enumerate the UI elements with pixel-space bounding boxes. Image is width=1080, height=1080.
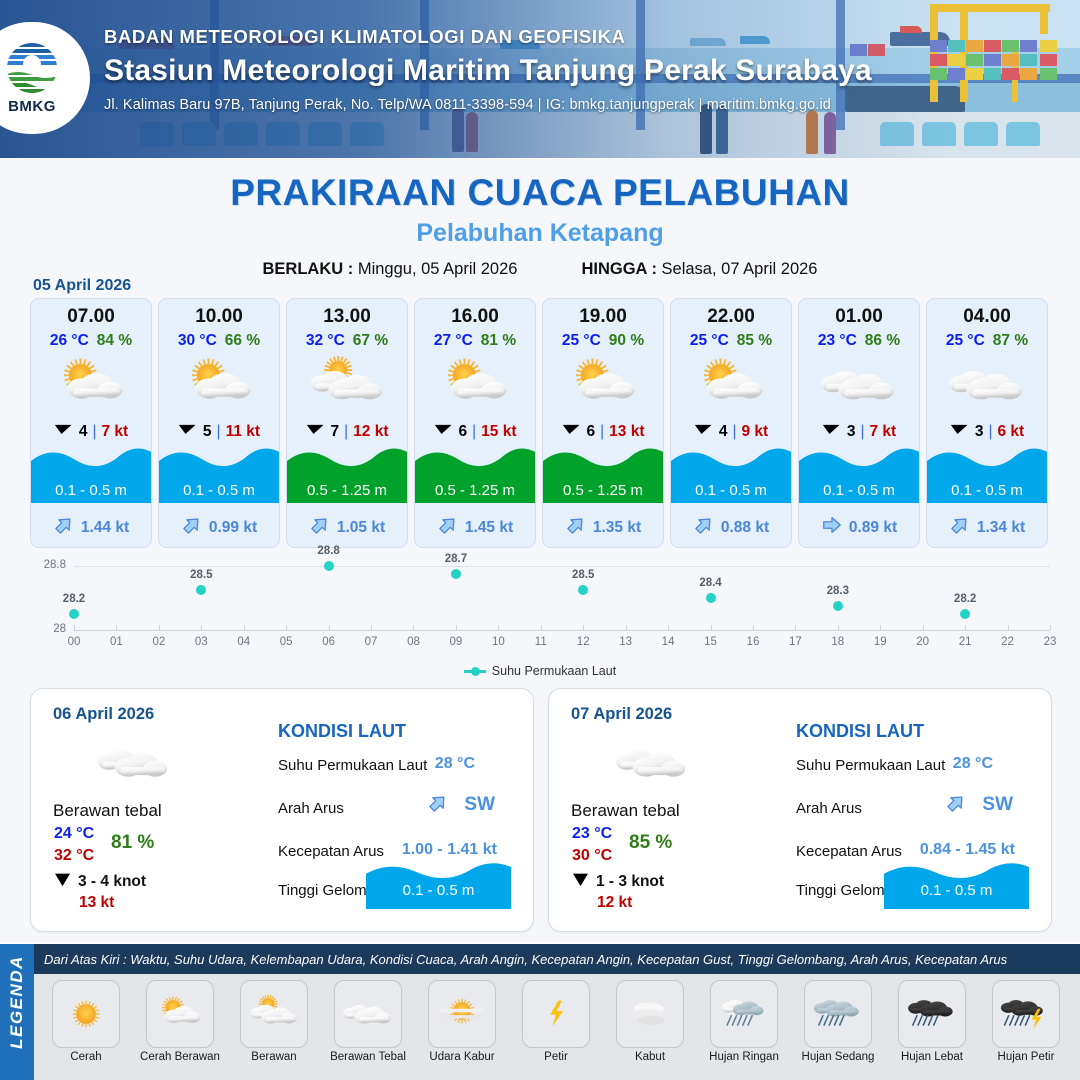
chart-xtick-mark — [711, 625, 712, 630]
chart-point — [196, 585, 206, 595]
current-direction-arrow-icon — [565, 514, 587, 541]
legend-section: LEGENDA Dari Atas Kiri : Waktu, Suhu Uda… — [0, 942, 1080, 1080]
chart-point — [706, 593, 716, 603]
valid-from-label: BERLAKU : — [263, 260, 354, 278]
chart-xtick: 17 — [789, 636, 802, 648]
legend-item: Kabut — [604, 980, 696, 1063]
hourly-card: 04.00 25 °C 87 % — [926, 298, 1048, 548]
agency-name: BADAN METEOROLOGI KLIMATOLOGI DAN GEOFIS… — [104, 26, 872, 48]
legend-note: Dari Atas Kiri : Waktu, Suhu Udara, Kele… — [34, 944, 1080, 974]
card-wind-row: 4 | 9 kt — [671, 422, 791, 441]
chart-xtick-mark — [329, 625, 330, 630]
daily-date: 06 April 2026 — [53, 705, 154, 724]
wind-direction-arrow-icon — [822, 422, 842, 441]
chart-xtick-mark — [923, 625, 924, 630]
header-text-block: BADAN METEOROLOGI KLIMATOLOGI DAN GEOFIS… — [104, 26, 872, 113]
daily-card: 07 April 2026 Berawan tebal — [548, 688, 1052, 932]
current-direction-arrow-icon — [427, 792, 449, 819]
page-title: PRAKIRAAN CUACA PELABUHAN — [0, 172, 1080, 214]
card-wave-height: 0.5 - 1.25 m — [287, 482, 407, 499]
daily-card: 06 April 2026 Berawan tebal — [30, 688, 534, 932]
legend-item-label: Hujan Sedang — [802, 1051, 875, 1063]
hourly-card: 13.00 32 °C 67 % — [286, 298, 408, 548]
card-temperature: 32 °C — [306, 332, 345, 350]
chart-xtick-mark — [880, 625, 881, 630]
card-wind-direction: 6 — [587, 423, 596, 441]
card-temperature: 25 °C — [562, 332, 601, 350]
chart-xtick: 20 — [916, 636, 929, 648]
card-temperature: 30 °C — [178, 332, 217, 350]
sea-row-label: Arah Arus — [278, 800, 344, 817]
daily-temp-min: 23 °C — [572, 825, 612, 843]
cerah-berawan-icon — [159, 354, 279, 416]
current-direction-value: SW — [464, 794, 495, 816]
card-current-row: 0.99 kt — [159, 514, 279, 541]
chart-xtick-mark — [965, 625, 966, 630]
card-temp-hum: 23 °C 86 % — [799, 332, 919, 350]
daily-forecast-row: 06 April 2026 Berawan tebal — [30, 688, 1052, 932]
card-temperature: 25 °C — [690, 332, 729, 350]
card-wave-height: 0.5 - 1.25 m — [543, 482, 663, 499]
sst-chart: 28.82828.228.528.828.728.528.428.328.200… — [24, 556, 1056, 688]
current-direction-arrow-icon — [181, 514, 203, 541]
current-direction-arrow-icon — [437, 514, 459, 541]
card-current-speed: 0.88 kt — [721, 519, 769, 537]
card-time: 07.00 — [31, 306, 151, 328]
chart-xtick-mark — [626, 625, 627, 630]
current-direction-arrow-icon — [821, 514, 843, 541]
valid-to: HINGGA : Selasa, 07 April 2026 — [581, 260, 817, 279]
card-humidity: 67 % — [353, 332, 388, 350]
chart-xtick: 12 — [577, 636, 590, 648]
legend-item-label: Petir — [544, 1051, 568, 1063]
bmkg-logo-text: BMKG — [8, 98, 56, 115]
daily-wind-value: 3 - 4 knot — [78, 873, 146, 891]
current-direction-arrow-icon — [309, 514, 331, 541]
wind-direction-arrow-icon — [572, 872, 589, 892]
daily-condition: Berawan tebal — [571, 801, 680, 821]
legend-item-label: Kabut — [635, 1051, 665, 1063]
wind-direction-arrow-icon — [306, 422, 326, 441]
hourly-date-label: 05 April 2026 — [33, 277, 131, 295]
berawan-tebal-icon — [334, 980, 402, 1048]
card-humidity: 90 % — [609, 332, 644, 350]
wind-direction-arrow-icon — [694, 422, 714, 441]
hourly-card: 01.00 23 °C 86 % — [798, 298, 920, 548]
chart-point-label: 28.2 — [63, 593, 85, 605]
chart-xtick-mark — [498, 625, 499, 630]
chart-xtick: 09 — [450, 636, 463, 648]
card-humidity: 66 % — [225, 332, 260, 350]
card-current-row: 1.45 kt — [415, 514, 535, 541]
bmkg-logo-mark — [4, 41, 60, 97]
chart-point-label: 28.4 — [699, 577, 721, 589]
card-humidity: 85 % — [737, 332, 772, 350]
card-humidity: 87 % — [993, 332, 1028, 350]
sea-surface-temp-value: 28 °C — [435, 755, 475, 773]
card-wind-direction: 7 — [331, 423, 340, 441]
card-gust: 6 kt — [997, 423, 1024, 441]
daily-gust: 12 kt — [597, 894, 632, 912]
kabut-icon — [616, 980, 684, 1048]
daily-temp-max: 30 °C — [572, 847, 612, 865]
card-wind-direction: 3 — [975, 423, 984, 441]
card-humidity: 84 % — [97, 332, 132, 350]
chart-xtick: 03 — [195, 636, 208, 648]
card-current-speed: 1.45 kt — [465, 519, 513, 537]
berawan-icon — [287, 354, 407, 416]
card-wave-height: 0.1 - 0.5 m — [671, 482, 791, 499]
card-separator: | — [860, 423, 864, 441]
udara-kabur-icon — [428, 980, 496, 1048]
card-temperature: 25 °C — [946, 332, 985, 350]
chart-xtick-mark — [583, 625, 584, 630]
legend-items: Cerah Cerah Berawan — [34, 974, 1080, 1080]
wind-direction-arrow-icon — [54, 422, 74, 441]
legend-item: Berawan Tebal — [322, 980, 414, 1063]
legend-item-label: Berawan Tebal — [330, 1051, 406, 1063]
card-wind-row: 3 | 6 kt — [927, 422, 1047, 441]
hourly-card: 16.00 27 °C 81 % 6 — [414, 298, 536, 548]
valid-from: BERLAKU : Minggu, 05 April 2026 — [263, 260, 518, 279]
card-wind-row: 6 | 15 kt — [415, 422, 535, 441]
card-wave-height: 0.1 - 0.5 m — [31, 482, 151, 499]
chart-xtick: 14 — [662, 636, 675, 648]
card-temp-hum: 25 °C 87 % — [927, 332, 1047, 350]
card-temp-hum: 25 °C 85 % — [671, 332, 791, 350]
daily-wind: 3 - 4 knot — [54, 872, 146, 892]
card-temperature: 23 °C — [818, 332, 857, 350]
petir-icon — [522, 980, 590, 1048]
chart-gridline — [74, 566, 1050, 567]
legend-item-label: Hujan Lebat — [901, 1051, 963, 1063]
chart-xtick: 13 — [619, 636, 632, 648]
legend-item: Udara Kabur — [416, 980, 508, 1063]
legend-side-title: LEGENDA — [7, 947, 27, 1057]
legend-side-bar: LEGENDA — [0, 944, 34, 1080]
sea-row-label: Arah Arus — [796, 800, 862, 817]
cerah-berawan-icon — [31, 354, 151, 416]
hujan-ringan-icon — [710, 980, 778, 1048]
sst-chart-legend: Suhu Permukaan Laut — [24, 664, 1056, 678]
chart-ytick: 28.8 — [44, 559, 66, 571]
card-current-speed: 1.35 kt — [593, 519, 641, 537]
chart-xtick: 00 — [68, 636, 81, 648]
chart-xtick-mark — [201, 625, 202, 630]
legend-item: Cerah — [40, 980, 132, 1063]
card-wind-row: 7 | 12 kt — [287, 422, 407, 441]
card-wave-height: 0.1 - 0.5 m — [799, 482, 919, 499]
card-temp-hum: 27 °C 81 % — [415, 332, 535, 350]
card-current-row: 1.05 kt — [287, 514, 407, 541]
legend-item: Petir — [510, 980, 602, 1063]
card-temp-hum: 25 °C 90 % — [543, 332, 663, 350]
daily-humidity: 85 % — [629, 832, 672, 854]
valid-to-label: HINGGA : — [581, 260, 656, 278]
chart-xtick: 10 — [492, 636, 505, 648]
legend-item-label: Udara Kabur — [429, 1051, 494, 1063]
sea-row-label: Suhu Permukaan Laut — [278, 757, 427, 774]
berawan-tebal-icon — [607, 737, 697, 789]
card-wind-row: 3 | 7 kt — [799, 422, 919, 441]
chart-xtick-mark — [753, 625, 754, 630]
card-current-row: 0.88 kt — [671, 514, 791, 541]
chart-xtick: 19 — [874, 636, 887, 648]
card-gust: 11 kt — [226, 423, 260, 441]
card-wind-row: 6 | 13 kt — [543, 422, 663, 441]
chart-xtick: 18 — [831, 636, 844, 648]
card-separator: | — [344, 423, 348, 441]
card-wave-height: 0.1 - 0.5 m — [159, 482, 279, 499]
cerah-berawan-icon — [415, 354, 535, 416]
hujan-lebat-icon — [898, 980, 966, 1048]
chart-xtick-mark — [371, 625, 372, 630]
card-time: 04.00 — [927, 306, 1047, 328]
cerah-berawan-icon — [671, 354, 791, 416]
chart-xtick-mark — [668, 625, 669, 630]
card-wind-direction: 6 — [459, 423, 468, 441]
card-temperature: 26 °C — [50, 332, 89, 350]
card-time: 19.00 — [543, 306, 663, 328]
chart-point — [451, 569, 461, 579]
validity-row: BERLAKU : Minggu, 05 April 2026 HINGGA :… — [0, 260, 1080, 279]
sea-row-label: Suhu Permukaan Laut — [796, 757, 945, 774]
chart-xtick: 23 — [1044, 636, 1057, 648]
card-current-row: 1.35 kt — [543, 514, 663, 541]
chart-xtick: 22 — [1001, 636, 1014, 648]
card-wave-height: 0.5 - 1.25 m — [415, 482, 535, 499]
legend-item: Hujan Petir — [980, 980, 1072, 1063]
daily-condition: Berawan tebal — [53, 801, 162, 821]
card-separator: | — [600, 423, 604, 441]
chart-xtick-mark — [74, 625, 75, 630]
card-separator: | — [472, 423, 476, 441]
card-humidity: 86 % — [865, 332, 900, 350]
current-direction-arrow-icon — [949, 514, 971, 541]
daily-temp-max: 32 °C — [54, 847, 94, 865]
card-current-speed: 0.99 kt — [209, 519, 257, 537]
card-gust: 7 kt — [101, 423, 128, 441]
sst-legend-marker-icon — [464, 670, 486, 673]
chart-xtick-mark — [413, 625, 414, 630]
chart-axis — [74, 630, 1050, 631]
sea-surface-temp-value: 28 °C — [953, 755, 993, 773]
chart-xtick: 16 — [747, 636, 760, 648]
chart-xtick: 07 — [365, 636, 378, 648]
chart-xtick-mark — [286, 625, 287, 630]
legend-item-label: Berawan — [251, 1051, 296, 1063]
card-wind-direction: 4 — [719, 423, 728, 441]
card-wave-height: 0.1 - 0.5 m — [927, 482, 1047, 499]
card-current-speed: 1.34 kt — [977, 519, 1025, 537]
chart-xtick: 04 — [237, 636, 250, 648]
card-humidity: 81 % — [481, 332, 516, 350]
hourly-forecast-row: 07.00 26 °C 84 % 4 — [30, 298, 1052, 548]
legend-item: Cerah Berawan — [134, 980, 226, 1063]
card-separator: | — [988, 423, 992, 441]
hourly-card: 10.00 30 °C 66 % 5 — [158, 298, 280, 548]
chart-point-label: 28.7 — [445, 553, 467, 565]
chart-xtick: 11 — [535, 636, 547, 648]
current-direction-arrow-icon — [693, 514, 715, 541]
chart-xtick: 06 — [322, 636, 335, 648]
contact-info: Jl. Kalimas Baru 97B, Tanjung Perak, No.… — [104, 97, 872, 113]
chart-point — [578, 585, 588, 595]
chart-point-label: 28.3 — [827, 585, 849, 597]
wind-direction-arrow-icon — [178, 422, 198, 441]
header-banner: BMKG BADAN METEOROLOGI KLIMATOLOGI DAN G… — [0, 0, 1080, 158]
card-time: 10.00 — [159, 306, 279, 328]
card-wind-direction: 4 — [79, 423, 88, 441]
berawan-icon — [240, 980, 308, 1048]
hourly-card: 22.00 25 °C 85 % 4 — [670, 298, 792, 548]
card-temperature: 27 °C — [434, 332, 473, 350]
hourly-card: 19.00 25 °C 90 % 6 — [542, 298, 664, 548]
wind-direction-arrow-icon — [434, 422, 454, 441]
hujan-sedang-icon — [804, 980, 872, 1048]
daily-wave-height: 0.1 - 0.5 m — [884, 882, 1029, 899]
page-title-block: PRAKIRAAN CUACA PELABUHAN Pelabuhan Keta… — [0, 158, 1080, 279]
card-wind-row: 4 | 7 kt — [31, 422, 151, 441]
chart-xtick: 15 — [704, 636, 717, 648]
berawan-tebal-icon — [799, 354, 919, 416]
card-current-speed: 1.05 kt — [337, 519, 385, 537]
chart-xtick-mark — [795, 625, 796, 630]
card-time: 13.00 — [287, 306, 407, 328]
chart-xtick: 05 — [280, 636, 293, 648]
sea-condition-title: KONDISI LAUT — [796, 721, 924, 742]
legend-item-label: Hujan Petir — [998, 1051, 1055, 1063]
cerah-berawan-icon — [543, 354, 663, 416]
card-wind-direction: 5 — [203, 423, 212, 441]
daily-date: 07 April 2026 — [571, 705, 672, 724]
card-current-speed: 0.89 kt — [849, 519, 897, 537]
valid-to-value: Selasa, 07 April 2026 — [662, 260, 818, 278]
card-current-row: 1.34 kt — [927, 514, 1047, 541]
legend-item: Hujan Ringan — [698, 980, 790, 1063]
card-time: 16.00 — [415, 306, 535, 328]
card-gust: 13 kt — [609, 423, 644, 441]
cerah-icon — [52, 980, 120, 1048]
current-direction-arrow-icon — [53, 514, 75, 541]
sst-chart-plot: 28.82828.228.528.828.728.528.428.328.200… — [74, 562, 1050, 634]
chart-ytick: 28 — [53, 623, 66, 635]
daily-wind: 1 - 3 knot — [572, 872, 664, 892]
card-separator: | — [732, 423, 736, 441]
legend-item-label: Cerah Berawan — [140, 1051, 220, 1063]
chart-point-label: 28.5 — [572, 569, 594, 581]
legend-item: Hujan Sedang — [792, 980, 884, 1063]
chart-xtick: 02 — [152, 636, 165, 648]
sst-legend-label: Suhu Permukaan Laut — [492, 664, 616, 678]
card-gust: 9 kt — [741, 423, 768, 441]
card-separator: | — [92, 423, 96, 441]
chart-point-label: 28.5 — [190, 569, 212, 581]
chart-xtick-mark — [1008, 625, 1009, 630]
hourly-card: 07.00 26 °C 84 % 4 — [30, 298, 152, 548]
chart-point — [833, 601, 843, 611]
hujan-petir-icon — [992, 980, 1060, 1048]
card-gust: 12 kt — [353, 423, 388, 441]
chart-xtick-mark — [541, 625, 542, 630]
chart-xtick: 21 — [959, 636, 972, 648]
chart-xtick-mark — [838, 625, 839, 630]
chart-point — [69, 609, 79, 619]
chart-point-label: 28.8 — [317, 545, 339, 557]
legend-item: Berawan — [228, 980, 320, 1063]
card-wind-direction: 3 — [847, 423, 856, 441]
card-time: 22.00 — [671, 306, 791, 328]
chart-point-label: 28.2 — [954, 593, 976, 605]
card-current-row: 1.44 kt — [31, 514, 151, 541]
chart-xtick-mark — [456, 625, 457, 630]
current-direction-value: SW — [982, 794, 1013, 816]
legend-item: Hujan Lebat — [886, 980, 978, 1063]
wind-direction-arrow-icon — [950, 422, 970, 441]
card-temp-hum: 26 °C 84 % — [31, 332, 151, 350]
current-direction-arrow-icon — [945, 792, 967, 819]
berawan-tebal-icon — [927, 354, 1047, 416]
card-wind-row: 5 | 11 kt — [159, 422, 279, 441]
chart-xtick-mark — [116, 625, 117, 630]
card-temp-hum: 32 °C 67 % — [287, 332, 407, 350]
chart-xtick-mark — [159, 625, 160, 630]
card-time: 01.00 — [799, 306, 919, 328]
card-current-row: 0.89 kt — [799, 514, 919, 541]
card-temp-hum: 30 °C 66 % — [159, 332, 279, 350]
legend-item-label: Hujan Ringan — [709, 1051, 779, 1063]
daily-temp-min: 24 °C — [54, 825, 94, 843]
card-gust: 15 kt — [481, 423, 516, 441]
chart-point — [960, 609, 970, 619]
card-current-speed: 1.44 kt — [81, 519, 129, 537]
card-gust: 7 kt — [869, 423, 896, 441]
chart-point — [324, 561, 334, 571]
card-separator: | — [217, 423, 221, 441]
sea-condition-title: KONDISI LAUT — [278, 721, 406, 742]
chart-xtick-mark — [1050, 625, 1051, 630]
valid-from-value: Minggu, 05 April 2026 — [358, 260, 518, 278]
daily-wind-value: 1 - 3 knot — [596, 873, 664, 891]
wind-direction-arrow-icon — [54, 872, 71, 892]
legend-item-label: Cerah — [70, 1051, 101, 1063]
station-name: Stasiun Meteorologi Maritim Tanjung Pera… — [104, 54, 872, 88]
chart-xtick: 01 — [110, 636, 123, 648]
daily-gust: 13 kt — [79, 894, 114, 912]
wind-direction-arrow-icon — [562, 422, 582, 441]
berawan-tebal-icon — [89, 737, 179, 789]
chart-xtick: 08 — [407, 636, 420, 648]
page-subtitle: Pelabuhan Ketapang — [0, 219, 1080, 248]
daily-wave-height: 0.1 - 0.5 m — [366, 882, 511, 899]
cerah-berawan-icon — [146, 980, 214, 1048]
chart-xtick-mark — [244, 625, 245, 630]
daily-humidity: 81 % — [111, 832, 154, 854]
